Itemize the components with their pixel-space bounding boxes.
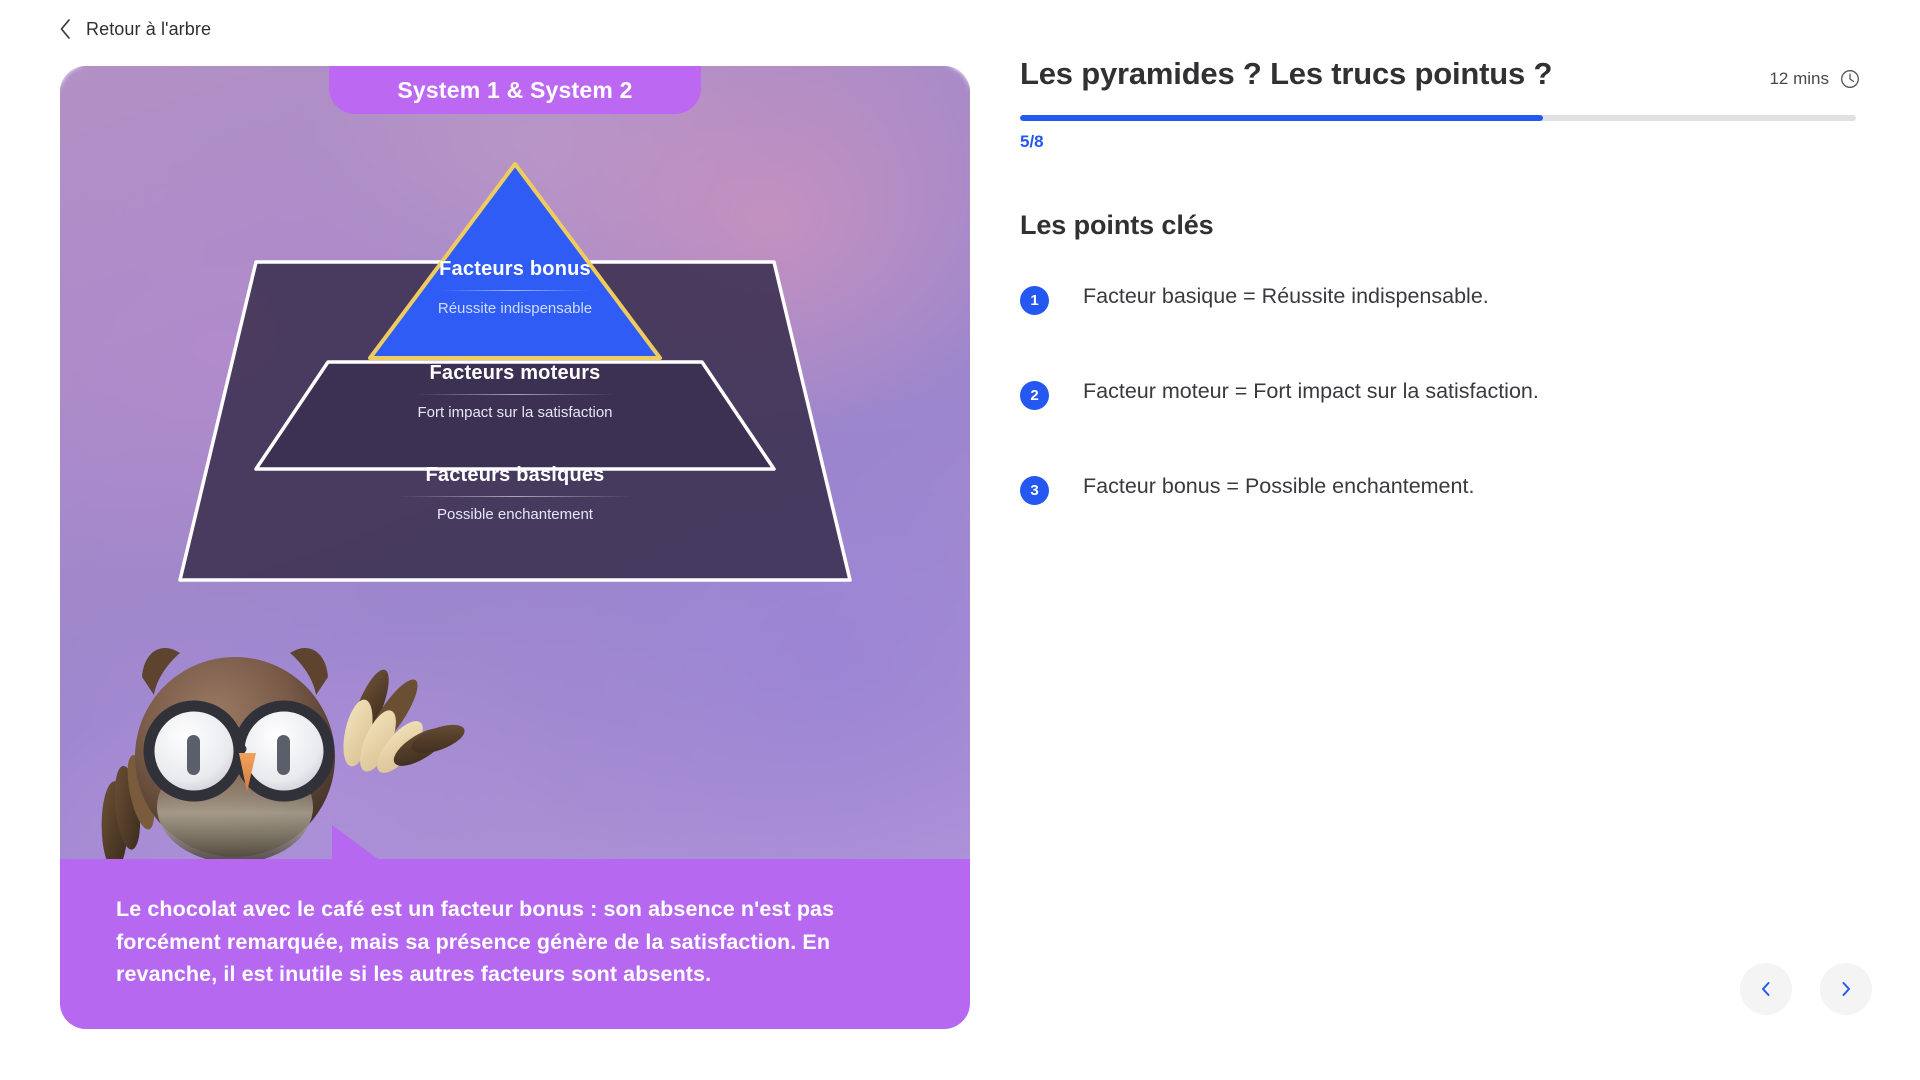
tier-basic-subtitle: Possible enchantement [60, 506, 970, 525]
pyramid-tier-motor-text: Facteurs moteurs Fort impact sur la sati… [60, 362, 970, 423]
tier-motor-divider [415, 394, 615, 395]
keypoint-text: Facteur moteur = Fort impact sur la sati… [1083, 378, 1539, 406]
tier-motor-title: Facteurs moteurs [60, 362, 970, 385]
owl-pupil-left [187, 735, 200, 775]
mascot-speech-bubble: Le chocolat avec le café est un facteur … [60, 859, 970, 1029]
keypoints-list: 1 Facteur basique = Réussite indispensab… [1020, 283, 1860, 505]
owl-pupil-right [277, 735, 290, 775]
keypoint-number: 2 [1020, 381, 1049, 410]
owl-mascot [70, 629, 490, 879]
speech-bubble-text: Le chocolat avec le café est un facteur … [116, 893, 914, 991]
list-item: 1 Facteur basique = Réussite indispensab… [1020, 283, 1860, 315]
page-title: Les pyramides ? Les trucs pointus ? [1020, 56, 1552, 92]
chevron-left-icon [58, 18, 72, 40]
keypoints-heading: Les points clés [1020, 210, 1860, 241]
pyramid-tier-basic-text: Facteurs basiques Possible enchantement [60, 464, 970, 525]
duration-label: 12 mins [1769, 69, 1829, 89]
next-slide-button[interactable] [1820, 963, 1872, 1015]
lesson-visual-card: System 1 & System 2 Facteurs bonus Réuss… [60, 66, 970, 1029]
lesson-progress-count: 5/8 [1020, 132, 1860, 152]
tier-basic-title: Facteurs basiques [60, 464, 970, 487]
list-item: 3 Facteur bonus = Possible enchantement. [1020, 473, 1860, 505]
top-bar: Retour à l'arbre [0, 0, 1920, 58]
lesson-progress-fill [1020, 115, 1543, 121]
chevron-left-icon [1757, 980, 1775, 998]
lesson-duration: 12 mins [1769, 69, 1860, 89]
tier-bonus-title: Facteurs bonus [60, 258, 970, 281]
tier-bonus-divider [440, 290, 590, 291]
keypoint-text: Facteur basique = Réussite indispensable… [1083, 283, 1489, 311]
tier-basic-divider [396, 496, 634, 497]
back-to-tree-label: Retour à l'arbre [86, 19, 211, 40]
keypoint-number: 3 [1020, 476, 1049, 505]
system-badge: System 1 & System 2 [329, 66, 701, 114]
slide-navigation [1740, 963, 1872, 1015]
lesson-progress-bar [1020, 115, 1856, 121]
pyramid-diagram: Facteurs bonus Réussite indispensable Fa… [60, 162, 970, 672]
tier-bonus-subtitle: Réussite indispensable [60, 300, 970, 319]
list-item: 2 Facteur moteur = Fort impact sur la sa… [1020, 378, 1860, 410]
lesson-header: Les pyramides ? Les trucs pointus ? 12 m… [1020, 56, 1860, 92]
pyramid-tier-bonus-text: Facteurs bonus Réussite indispensable [60, 258, 970, 319]
speech-bubble-tail [332, 825, 378, 859]
tier-motor-subtitle: Fort impact sur la satisfaction [60, 404, 970, 423]
lesson-detail-panel: Les pyramides ? Les trucs pointus ? 12 m… [1020, 56, 1860, 568]
keypoint-text: Facteur bonus = Possible enchantement. [1083, 473, 1474, 501]
keypoint-number: 1 [1020, 286, 1049, 315]
previous-slide-button[interactable] [1740, 963, 1792, 1015]
back-to-tree-link[interactable]: Retour à l'arbre [58, 18, 211, 40]
owl-right-wing [338, 665, 468, 779]
clock-icon [1840, 69, 1860, 89]
chevron-right-icon [1837, 980, 1855, 998]
